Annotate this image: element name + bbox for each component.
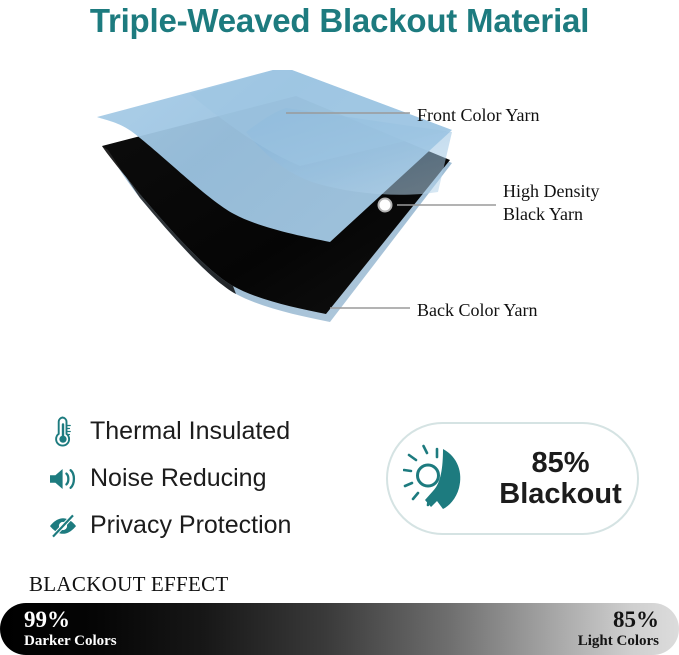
blackout-word: Blackout: [490, 479, 631, 510]
feature-list: Thermal Insulated Noise Reducing Privacy…: [44, 408, 374, 549]
feature-item-noise-reducing: Noise Reducing: [44, 455, 374, 502]
speaker-sound-icon: [44, 465, 82, 493]
darker-colors-percent: 99%: [24, 608, 117, 633]
eye-slash-icon: [44, 513, 82, 539]
blackout-badge-text: 85% Blackout: [490, 448, 631, 509]
blackout-effect-gradient-bar: 99% Darker Colors 85% Light Colors: [0, 603, 679, 655]
feature-label-thermal-insulated: Thermal Insulated: [90, 417, 290, 446]
feature-item-privacy-protection: Privacy Protection: [44, 502, 374, 549]
blackout-percent: 85%: [490, 448, 631, 479]
label-back-color-yarn: Back Color Yarn: [417, 299, 538, 322]
gradient-bar-right-stat: 85% Light Colors: [578, 608, 659, 649]
feature-label-privacy-protection: Privacy Protection: [90, 511, 291, 540]
label-front-color-yarn: Front Color Yarn: [417, 104, 540, 127]
darker-colors-label: Darker Colors: [24, 633, 117, 649]
fabric-layers-diagram: Front Color Yarn High Density Black Yarn…: [0, 70, 679, 370]
feature-item-thermal-insulated: Thermal Insulated: [44, 408, 374, 455]
blackout-badge: 85% Blackout: [386, 422, 639, 535]
feature-label-noise-reducing: Noise Reducing: [90, 464, 267, 493]
label-high-density-black-yarn: High Density Black Yarn: [503, 180, 600, 225]
label-high-density-line1: High Density: [503, 180, 600, 203]
label-high-density-line2: Black Yarn: [503, 203, 600, 226]
light-colors-percent: 85%: [578, 608, 659, 633]
light-colors-label: Light Colors: [578, 633, 659, 649]
leader-dot-marker: [379, 199, 392, 212]
page-title: Triple-Weaved Blackout Material: [0, 2, 679, 40]
blackout-effect-heading: BLACKOUT EFFECT: [29, 572, 229, 597]
thermometer-icon: [44, 416, 82, 448]
sun-curtain-icon: [394, 443, 490, 515]
gradient-bar-left-stat: 99% Darker Colors: [24, 608, 117, 649]
